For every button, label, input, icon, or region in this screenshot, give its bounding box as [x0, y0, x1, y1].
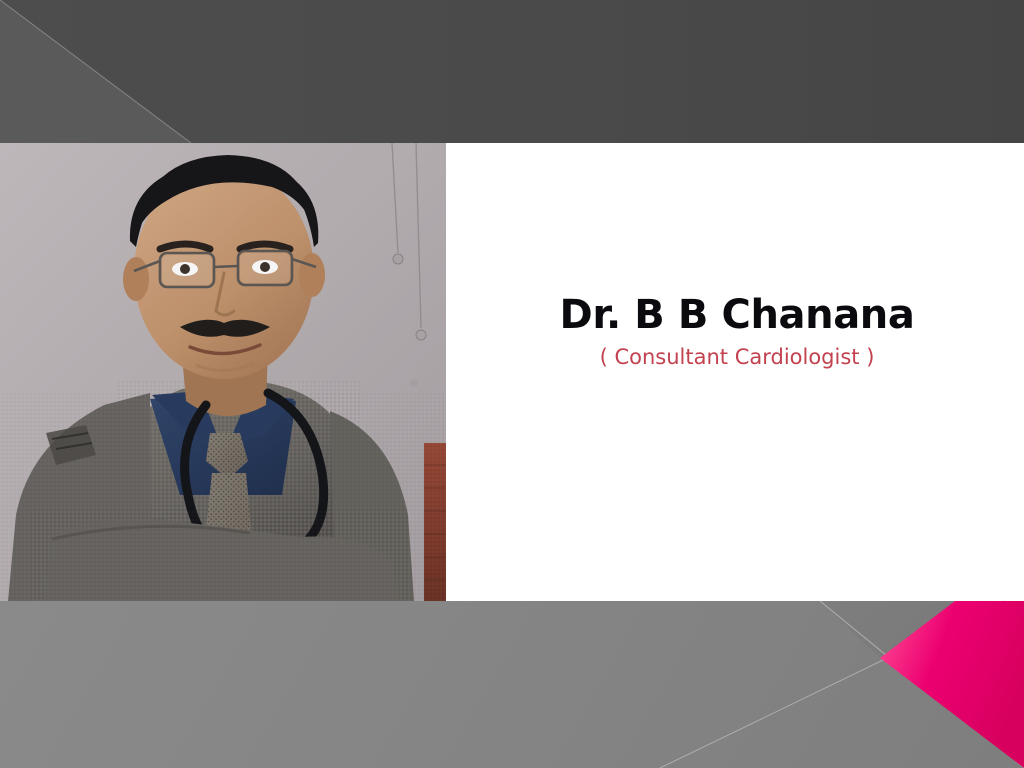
doctor-name: Dr. B B Chanana: [470, 295, 1004, 335]
portrait-illustration: [0, 143, 446, 601]
title-text-block: Dr. B B Chanana ( Consultant Cardiologis…: [470, 295, 1004, 368]
presentation-slide: Dr. B B Chanana ( Consultant Cardiologis…: [0, 0, 1024, 768]
doctor-portrait-photo: [0, 143, 446, 601]
bottom-background-band: [0, 601, 1024, 768]
doctor-designation: ( Consultant Cardiologist ): [470, 347, 1004, 368]
